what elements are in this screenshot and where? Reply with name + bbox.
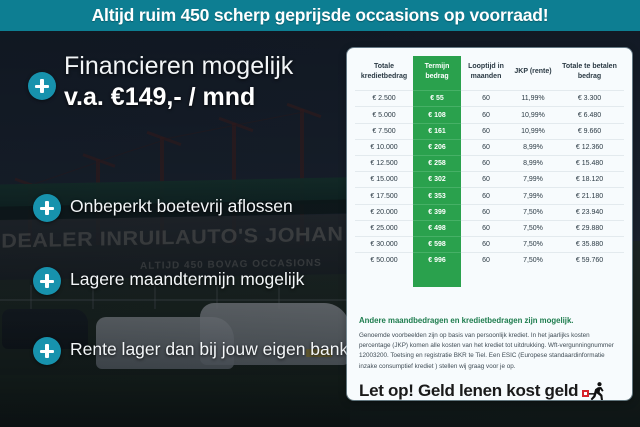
- table-row: € 2.500€ 556011,99%€ 3.300: [355, 91, 624, 107]
- column-header-totaal: Totale te betalen bedrag: [555, 56, 624, 91]
- cell-totaal: € 6.480: [555, 107, 624, 123]
- plus-icon: [33, 267, 61, 295]
- top-headline-text: Altijd ruim 450 scherp geprijsde occasio…: [92, 5, 549, 26]
- table-row: € 50.000€ 996607,50%€ 59.760: [355, 253, 624, 269]
- cell-looptijd: 60: [461, 107, 511, 123]
- cell-jkp: 10,99%: [511, 123, 555, 139]
- cell-krediet: € 10.000: [355, 139, 413, 155]
- afm-door-icon: [582, 390, 589, 397]
- plus-icon: [33, 337, 61, 365]
- cell-krediet: € 12.500: [355, 156, 413, 172]
- cell-krediet: € 5.000: [355, 107, 413, 123]
- cell-termijn: € 498: [413, 220, 461, 236]
- cell-termijn: € 206: [413, 139, 461, 155]
- cell-krediet: € 50.000: [355, 253, 413, 269]
- cell-termijn: € 353: [413, 188, 461, 204]
- cell-krediet: € 15.000: [355, 172, 413, 188]
- cell-looptijd: 60: [461, 253, 511, 269]
- cell-jkp: 10,99%: [511, 107, 555, 123]
- cell-jkp: 11,99%: [511, 91, 555, 107]
- page-subtitle: v.a. €149,- / mnd: [64, 84, 350, 110]
- benefit-item-label: Lagere maandtermijn mogelijk: [70, 269, 304, 290]
- cell-jkp: 8,99%: [511, 156, 555, 172]
- cell-looptijd: 60: [461, 220, 511, 236]
- cell-jkp: 8,99%: [511, 139, 555, 155]
- page-title: Financieren mogelijk: [64, 53, 350, 79]
- cell-totaal: € 29.880: [555, 220, 624, 236]
- table-row: € 5.000€ 1086010,99%€ 6.480: [355, 107, 624, 123]
- table-highlight-footer: [355, 268, 624, 286]
- cell-looptijd: 60: [461, 172, 511, 188]
- table-row: € 25.000€ 498607,50%€ 29.880: [355, 220, 624, 236]
- column-header-krediet: Totale kredietbedrag: [355, 56, 413, 91]
- table-row: € 15.000€ 302607,99%€ 18.120: [355, 172, 624, 188]
- cell-termijn: € 55: [413, 91, 461, 107]
- note-body: Genoemde voorbeelden zijn op basis van p…: [359, 331, 621, 372]
- cell-termijn: € 258: [413, 156, 461, 172]
- table-header-row: Totale kredietbedrag Termijn bedrag Loop…: [355, 56, 624, 91]
- column-header-termijn: Termijn bedrag: [413, 56, 461, 91]
- cell-looptijd: 60: [461, 123, 511, 139]
- cell-krediet: € 7.500: [355, 123, 413, 139]
- cell-looptijd: 60: [461, 236, 511, 252]
- loan-warning: Let op! Geld lenen kost geld: [359, 380, 621, 400]
- cell-looptijd: 60: [461, 139, 511, 155]
- cell-jkp: 7,50%: [511, 220, 555, 236]
- top-headline-bar: Altijd ruim 450 scherp geprijsde occasio…: [0, 0, 640, 31]
- cell-krediet: € 20.000: [355, 204, 413, 220]
- table-row: € 30.000€ 598607,50%€ 35.880: [355, 236, 624, 252]
- cell-totaal: € 9.660: [555, 123, 624, 139]
- cell-looptijd: 60: [461, 204, 511, 220]
- cell-totaal: € 15.480: [555, 156, 624, 172]
- cell-krediet: € 30.000: [355, 236, 413, 252]
- cell-krediet: € 2.500: [355, 91, 413, 107]
- cell-termijn: € 108: [413, 107, 461, 123]
- note-title: Andere maandbedragen en kredietbedragen …: [359, 316, 621, 326]
- promo-banner: Altijd ruim 450 scherp geprijsde occasio…: [0, 0, 640, 427]
- loan-warning-text: Let op! Geld lenen kost geld: [359, 381, 578, 400]
- benefit-item-label: Onbeperkt boetevrij aflossen: [70, 196, 293, 217]
- cell-totaal: € 18.120: [555, 172, 624, 188]
- cell-jkp: 7,50%: [511, 204, 555, 220]
- cell-jkp: 7,50%: [511, 253, 555, 269]
- cell-termijn: € 598: [413, 236, 461, 252]
- highlight-column-cap: [413, 268, 461, 286]
- cell-jkp: 7,99%: [511, 172, 555, 188]
- column-header-looptijd: Looptijd in maanden: [461, 56, 511, 91]
- cell-totaal: € 59.760: [555, 253, 624, 269]
- cell-krediet: € 17.500: [355, 188, 413, 204]
- table-row: € 12.500€ 258608,99%€ 15.480: [355, 156, 624, 172]
- cell-looptijd: 60: [461, 156, 511, 172]
- cell-jkp: 7,50%: [511, 236, 555, 252]
- cell-termijn: € 161: [413, 123, 461, 139]
- cell-totaal: € 23.940: [555, 204, 624, 220]
- table-row: € 20.000€ 399607,50%€ 23.940: [355, 204, 624, 220]
- cell-looptijd: 60: [461, 91, 511, 107]
- benefit-item-label: Rente lager dan bij jouw eigen bank: [70, 339, 348, 360]
- cell-termijn: € 302: [413, 172, 461, 188]
- cell-totaal: € 35.880: [555, 236, 624, 252]
- cell-totaal: € 3.300: [555, 91, 624, 107]
- rates-table: Totale kredietbedrag Termijn bedrag Loop…: [355, 56, 624, 287]
- column-header-jkp: JKP (rente): [511, 56, 555, 91]
- table-row: € 10.000€ 206608,99%€ 12.360: [355, 139, 624, 155]
- rates-table-body: € 2.500€ 556011,99%€ 3.300€ 5.000€ 10860…: [355, 91, 624, 269]
- cell-termijn: € 996: [413, 253, 461, 269]
- afm-running-man-icon: [582, 381, 610, 400]
- rates-card: Totale kredietbedrag Termijn bedrag Loop…: [347, 48, 632, 400]
- plus-icon: [33, 194, 61, 222]
- left-content-column: Financieren mogelijk v.a. €149,- / mnd O…: [0, 31, 350, 427]
- table-row: € 7.500€ 1616010,99%€ 9.660: [355, 123, 624, 139]
- plus-icon: [28, 72, 56, 100]
- cell-krediet: € 25.000: [355, 220, 413, 236]
- cell-totaal: € 21.180: [555, 188, 624, 204]
- cell-jkp: 7,99%: [511, 188, 555, 204]
- cell-totaal: € 12.360: [555, 139, 624, 155]
- cell-looptijd: 60: [461, 188, 511, 204]
- cell-termijn: € 399: [413, 204, 461, 220]
- table-row: € 17.500€ 353607,99%€ 21.180: [355, 188, 624, 204]
